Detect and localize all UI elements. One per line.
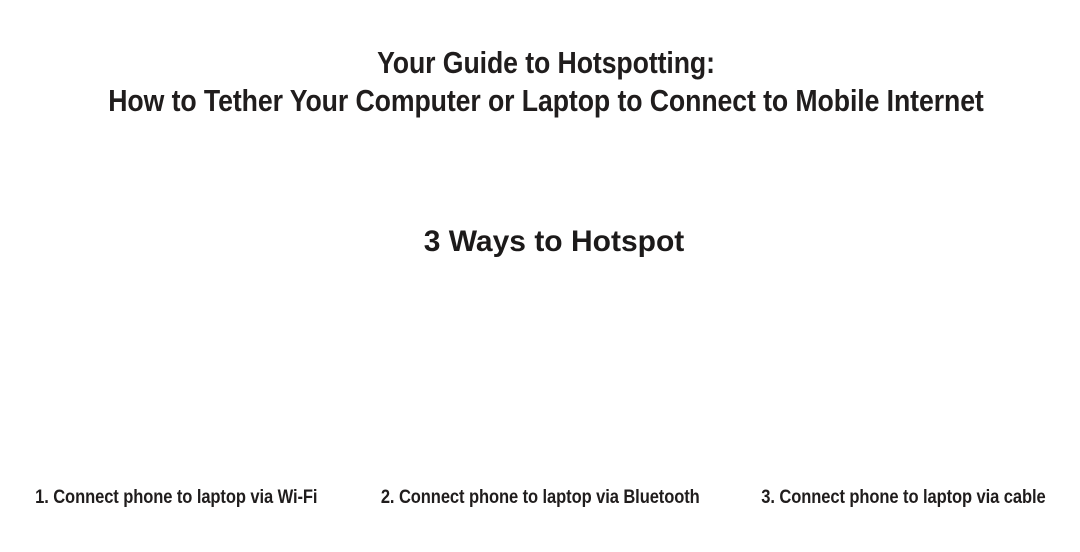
infographic-page: Your Guide to Hotspotting: How to Tether… <box>0 0 1080 552</box>
cable-method-illustration <box>720 278 1080 476</box>
method-1-caption: 1. Connect phone to laptop via Wi-Fi <box>35 486 317 510</box>
page-title-line-1: Your Guide to Hotspotting: <box>76 44 1015 82</box>
method-1-cell: 1. Connect phone to laptop via Wi-Fi <box>0 486 353 510</box>
method-2-caption: 2. Connect phone to laptop via Bluetooth <box>381 486 700 510</box>
method-2-cell: 2. Connect phone to laptop via Bluetooth <box>353 486 728 510</box>
page-title: Your Guide to Hotspotting: How to Tether… <box>0 44 1080 120</box>
subheading: 3 Ways to Hotspot <box>424 224 685 260</box>
subheading-container: 3 Ways to Hotspot <box>0 224 1080 260</box>
page-title-line-2: How to Tether Your Computer or Laptop to… <box>76 82 1015 120</box>
method-3-caption: 3. Connect phone to laptop via cable <box>761 486 1045 510</box>
bluetooth-method-illustration <box>360 278 720 476</box>
caption-row: 1. Connect phone to laptop via Wi-Fi 2. … <box>0 486 1080 510</box>
wifi-method-illustration <box>0 278 360 476</box>
method-3-cell: 3. Connect phone to laptop via cable <box>727 486 1080 510</box>
illustration-row <box>0 278 1080 476</box>
